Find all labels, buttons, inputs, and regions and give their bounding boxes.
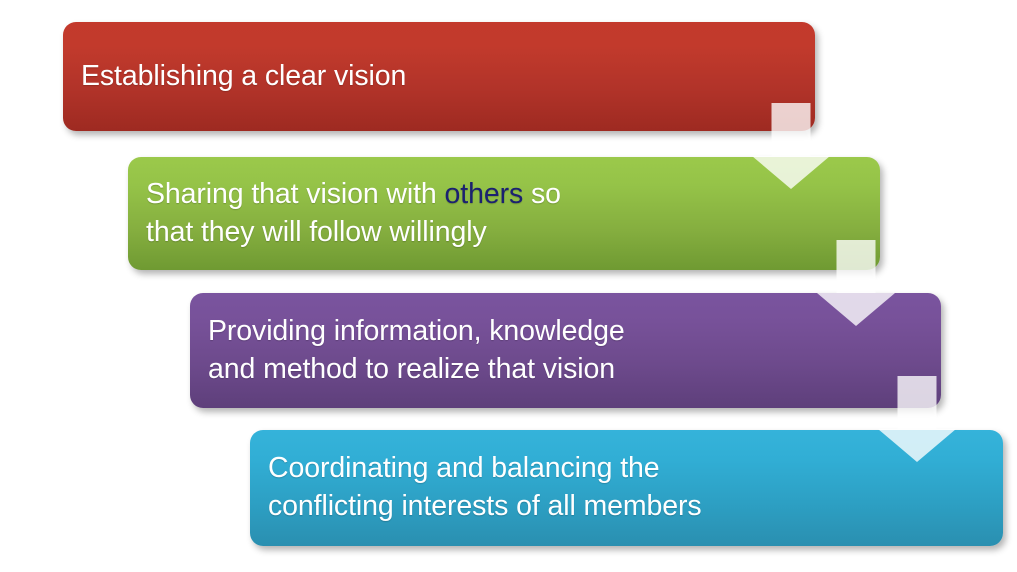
step-line-2: and method to realize that vision [208, 353, 615, 385]
step-line-1: Coordinating and balancing the [268, 452, 660, 484]
step-box-coordinating-and-balancing[interactable]: Coordinating and balancing the conflicti… [250, 430, 1003, 546]
diagram-canvas: Establishing a clear vision Sharing that… [0, 0, 1017, 572]
step-box-establishing-a-clear-vision[interactable]: Establishing a clear vision [63, 22, 815, 131]
step-line-2: conflicting interests of all members [268, 490, 702, 522]
step-text-coordinating-and-balancing: Coordinating and balancing the conflicti… [250, 450, 1003, 526]
step-line-2: that they will follow willingly [146, 216, 487, 248]
step-text-sharing-that-vision: Sharing that vision with others so that … [128, 176, 880, 252]
step-line-1-suffix: so [523, 178, 561, 210]
step-text-providing-information: Providing information, knowledge and met… [190, 313, 941, 389]
step-line-1: Establishing a clear vision [81, 60, 406, 92]
highlighted-word-others: others [445, 178, 524, 210]
step-line-1: Providing information, knowledge [208, 315, 625, 347]
step-box-sharing-that-vision[interactable]: Sharing that vision with others so that … [128, 157, 880, 270]
step-box-providing-information[interactable]: Providing information, knowledge and met… [190, 293, 941, 408]
step-text-establishing-a-clear-vision: Establishing a clear vision [63, 58, 815, 96]
step-line-1-prefix: Sharing that vision with [146, 178, 445, 210]
